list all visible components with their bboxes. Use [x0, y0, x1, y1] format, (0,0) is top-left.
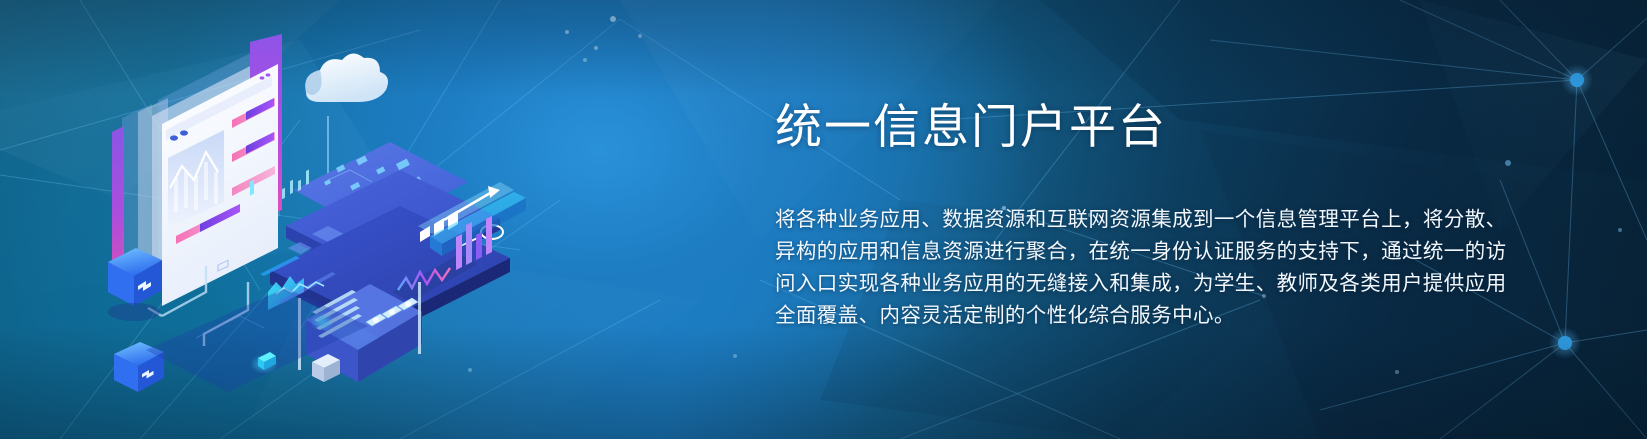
settings-cube-upper — [108, 248, 162, 321]
description-line-3: 问入口实现各种业务应用的无缝接入和集成，为学生、教师及各类用户提供应用 — [775, 268, 1465, 300]
description-line-1: 将各种业务应用、数据资源和互联网资源集成到一个信息管理平台上，将分散、 — [775, 204, 1465, 236]
description-line-2: 异构的应用和信息资源进行聚合，在统一身份认证服务的支持下，通过统一的访 — [775, 236, 1465, 268]
page-description: 将各种业务应用、数据资源和互联网资源集成到一个信息管理平台上，将分散、 异构的应… — [775, 204, 1465, 332]
browser-window — [152, 34, 282, 306]
hero-banner: 统一信息门户平台 将各种业务应用、数据资源和互联网资源集成到一个信息管理平台上，… — [0, 0, 1647, 439]
isometric-data-platform-illustration — [100, 20, 540, 420]
description-line-4: 全面覆盖、内容灵活定制的个性化综合服务中心。 — [775, 300, 1465, 332]
page-title: 统一信息门户平台 — [775, 88, 1167, 157]
